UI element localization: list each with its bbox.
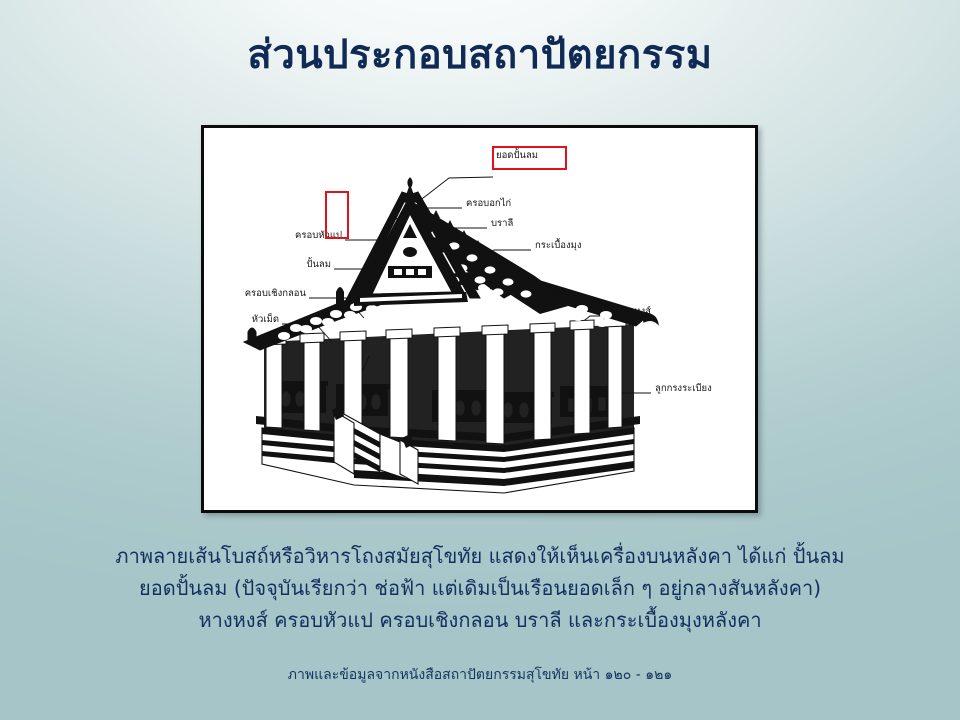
caption-line-3: หางหงส์ ครอบหัวแป ครอบเชิงกลอน บราลี และ… <box>0 604 960 636</box>
diagram-label-krop-choeng-klon: ครอบเชิงกลอน <box>232 289 306 299</box>
highlight-box-label <box>492 146 567 170</box>
figure-image: ยอดปั้นลม ครอบอกไก่ บราลี กระเบื้องมุง ค… <box>204 128 755 510</box>
diagram-label-barali: บราลี <box>491 219 513 229</box>
diagram-label-luk-krong-rabieng: ลูกกรงระเบียง <box>655 384 712 394</box>
diagram-label-hang-hong: หางหงส์ <box>618 307 651 317</box>
page-title: ส่วนประกอบสถาปัตยกรรม <box>0 32 960 78</box>
highlight-box-finial <box>325 191 349 239</box>
figure-caption: ภาพลายเส้นโบสถ์หรือวิหารโถงสมัยสุโขทัย แ… <box>0 540 960 636</box>
caption-line-1: ภาพลายเส้นโบสถ์หรือวิหารโถงสมัยสุโขทัย แ… <box>0 540 960 572</box>
temple-line-drawing <box>204 128 755 510</box>
caption-line-2: ยอดปั้นลม (ปัจจุบันเรียกว่า ช่อฟ้า แต่เด… <box>0 572 960 604</box>
figure-frame[interactable]: ยอดปั้นลม ครอบอกไก่ บราลี กระเบื้องมุง ค… <box>201 125 758 513</box>
diagram-label-hua-met: หัวเม็ด <box>230 315 279 325</box>
diagram-label-krabueang-mung: กระเบื้องมุง <box>535 241 581 251</box>
source-credit: ภาพและข้อมูลจากหนังสือสถาปัตยกรรมสุโขทัย… <box>0 664 960 686</box>
diagram-label-pan-lom: ปั้นลม <box>282 260 331 270</box>
slide-canvas: ส่วนประกอบสถาปัตยกรรม <box>0 0 960 720</box>
diagram-label-krop-ok-kai: ครอบอกไก่ <box>466 199 511 209</box>
